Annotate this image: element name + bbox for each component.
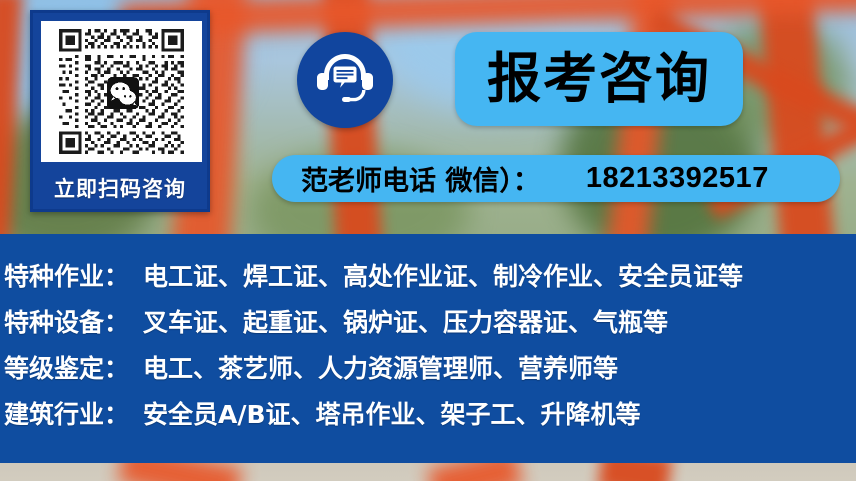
category-label: 特种作业： [4,257,129,293]
page-title: 报考咨询 [487,52,711,106]
category-value: 电工证、焊工证、高处作业证、制冷作业、安全员证等 [143,257,743,293]
contact-phone-number[interactable]: 18213392517 [586,162,769,195]
qr-card[interactable]: 立即扫码咨询 [30,10,210,212]
qr-caption: 立即扫码咨询 [33,173,207,203]
category-value: 安全员A/B证、塔吊作业、架子工、升降机等 [143,395,641,431]
category-label: 特种设备： [4,303,129,339]
headset-support-icon [315,51,375,109]
category-label: 等级鉴定： [4,349,129,385]
list-item: 等级鉴定： 电工、茶艺师、人力资源管理师、营养师等 [0,344,856,390]
category-value: 叉车证、起重证、锅炉证、压力容器证、气瓶等 [143,303,668,339]
category-label: 建筑行业： [4,395,129,431]
qr-code-frame [41,21,202,162]
category-value: 电工、茶艺师、人力资源管理师、营养师等 [143,349,618,385]
qr-code-icon [48,26,195,157]
list-item: 建筑行业： 安全员A/B证、塔吊作业、架子工、升降机等 [0,390,856,436]
category-list-panel: 特种作业： 电工证、焊工证、高处作业证、制冷作业、安全员证等 特种设备： 叉车证… [0,234,856,463]
promo-poster: 立即扫码咨询 报考咨询 范老师电话 微信）： 18213392517 特种作业：… [0,0,856,481]
support-badge[interactable] [297,32,393,128]
contact-bar[interactable]: 范老师电话 微信）： 18213392517 [272,155,840,202]
title-banner: 报考咨询 [455,32,743,126]
contact-label: 范老师电话 微信）： [301,159,540,198]
list-item: 特种设备： 叉车证、起重证、锅炉证、压力容器证、气瓶等 [0,298,856,344]
list-item: 特种作业： 电工证、焊工证、高处作业证、制冷作业、安全员证等 [0,252,856,298]
